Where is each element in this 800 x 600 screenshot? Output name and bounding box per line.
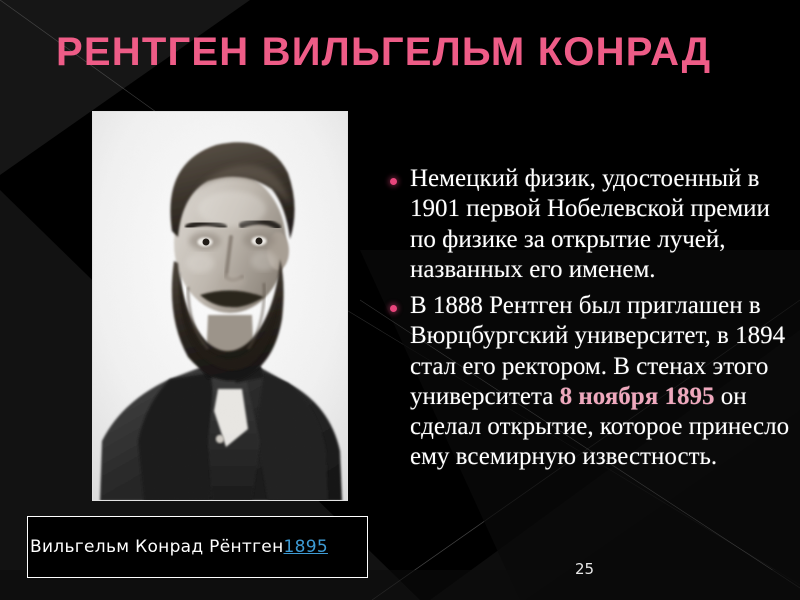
- page-number: 25: [575, 560, 594, 578]
- list-item: Немецкий физик, удостоенный в 1901 перво…: [390, 164, 790, 285]
- highlighted-date: 8 ноября 1895: [560, 383, 715, 410]
- photo-caption-box: Вильгельм Конрад Рёнтген 1895: [27, 516, 368, 578]
- caption-year-link[interactable]: 1895: [283, 537, 327, 557]
- portrait-photo: [92, 111, 348, 501]
- page-title: РЕНТГЕН ВИЛЬГЕЛЬМ КОНРАД: [56, 31, 756, 73]
- roentgen-portrait-graphic: [92, 111, 348, 501]
- caption-name: Вильгельм Конрад Рёнтген: [28, 537, 283, 557]
- bullet-text-2: В 1888 Рентген был приглашен в Вюрцбургс…: [410, 291, 790, 473]
- list-item: В 1888 Рентген был приглашен в Вюрцбургс…: [390, 291, 790, 473]
- bullet-dot-icon: [390, 178, 397, 185]
- presentation-slide: РЕНТГЕН ВИЛЬГЕЛЬМ КОНРАД: [0, 0, 800, 600]
- bullet-dot-icon: [390, 305, 397, 312]
- body-content: Немецкий физик, удостоенный в 1901 перво…: [390, 164, 790, 479]
- bullet-1-segment-0: Немецкий физик, удостоенный в 1901 перво…: [410, 165, 770, 283]
- bullet-text-1: Немецкий физик, удостоенный в 1901 перво…: [410, 164, 790, 285]
